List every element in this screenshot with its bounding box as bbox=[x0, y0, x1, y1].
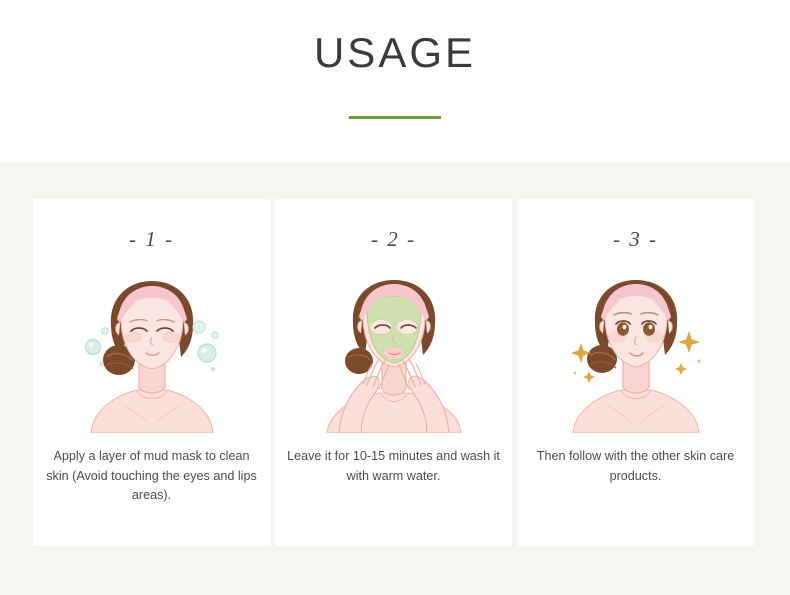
usage-step-card: - 1 - bbox=[33, 199, 270, 546]
woman-face-bubbles-icon bbox=[67, 265, 237, 433]
usage-step-card: - 2 - bbox=[275, 199, 512, 546]
usage-page: USAGE - 1 - bbox=[0, 0, 790, 595]
usage-step-card: - 3 - bbox=[517, 199, 754, 546]
step-caption: Apply a layer of mud mask to clean skin … bbox=[42, 447, 260, 506]
page-header: USAGE bbox=[0, 0, 790, 163]
title-divider bbox=[349, 116, 441, 119]
woman-face-sparkles-icon bbox=[551, 265, 721, 433]
page-title: USAGE bbox=[0, 32, 790, 74]
step-number: - 3 - bbox=[613, 229, 658, 253]
step-caption: Then follow with the other skin care pro… bbox=[526, 447, 744, 486]
step-number: - 2 - bbox=[371, 229, 416, 253]
step-caption: Leave it for 10-15 minutes and wash it w… bbox=[284, 447, 502, 486]
usage-step-cards: - 1 - bbox=[33, 199, 754, 546]
step-number: - 1 - bbox=[129, 229, 174, 253]
woman-face-green-mask-hands-icon bbox=[309, 265, 479, 433]
